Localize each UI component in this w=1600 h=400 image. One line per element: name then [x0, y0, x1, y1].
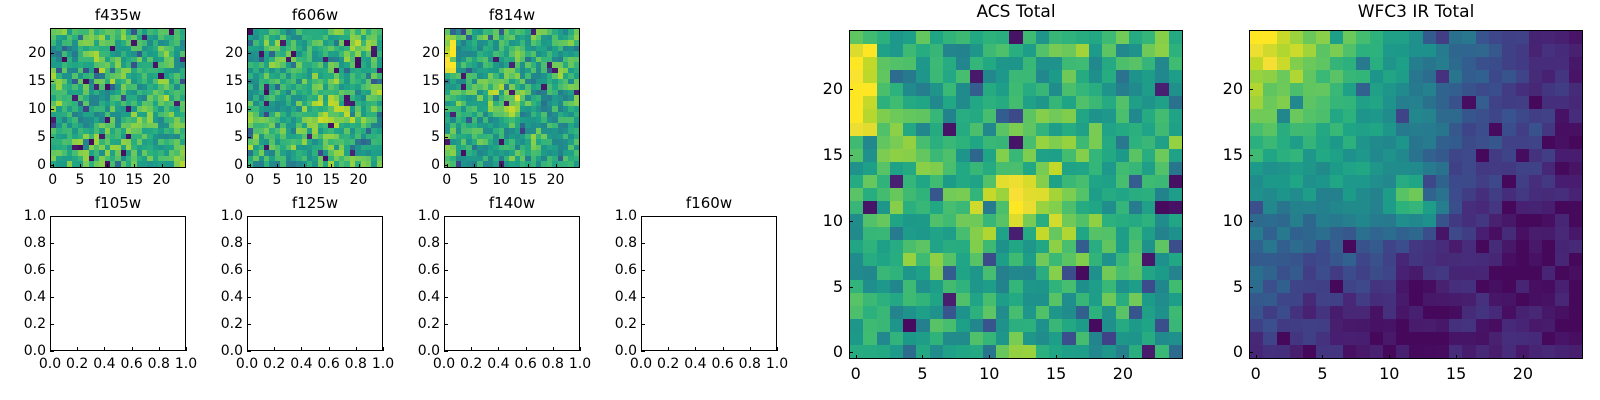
x-tick-label: 5: [1317, 366, 1327, 382]
y-tick-label: 20: [813, 81, 843, 97]
panel-acs-total: ACS Total 0055101015152020: [849, 4, 1183, 394]
panel-title-acs-total: ACS Total: [849, 4, 1183, 21]
x-tick-label: 0.2: [460, 357, 482, 371]
x-tick-label: 0: [245, 173, 254, 187]
x-tick-label: 0.0: [433, 357, 455, 371]
x-tick-mark: [922, 355, 923, 359]
y-tick-mark: [247, 243, 251, 244]
axes-f814w[interactable]: [444, 28, 580, 168]
panel-f125w: f125w 0.00.00.20.20.40.40.60.60.80.81.01…: [247, 196, 383, 386]
y-tick-mark: [444, 216, 448, 217]
y-tick-mark: [849, 155, 853, 156]
panel-title-wfc3-ir-total: WFC3 IR Total: [1249, 4, 1583, 21]
y-tick-mark: [247, 216, 251, 217]
y-tick-label: 0.4: [605, 290, 637, 304]
y-tick-mark: [1249, 155, 1253, 156]
y-tick-label: 20: [1213, 81, 1243, 97]
x-tick-label: 0.6: [120, 357, 142, 371]
x-tick-label: 0.8: [739, 357, 761, 371]
x-tick-mark: [1456, 355, 1457, 359]
panel-f160w: f160w 0.00.00.20.20.40.40.60.60.80.81.01…: [641, 196, 777, 386]
y-tick-label: 15: [813, 147, 843, 163]
axes-f160w[interactable]: [641, 216, 777, 351]
y-tick-label: 0.0: [408, 344, 440, 358]
heatmap-f606w: [248, 29, 382, 167]
panel-title-f140w: f140w: [444, 196, 580, 211]
x-tick-mark: [750, 347, 751, 351]
y-tick-label: 1.0: [408, 209, 440, 223]
panel-title-f606w: f606w: [247, 8, 383, 23]
x-tick-label: 0.8: [345, 357, 367, 371]
y-tick-mark: [444, 53, 448, 54]
y-tick-label: 15: [16, 74, 46, 88]
heatmap-wfc3-ir-total: [1250, 31, 1582, 358]
y-tick-mark: [50, 53, 54, 54]
x-tick-mark: [132, 347, 133, 351]
y-tick-label: 0.6: [408, 263, 440, 277]
x-tick-label: 15: [322, 173, 340, 187]
y-tick-mark: [444, 137, 448, 138]
x-tick-label: 0.4: [290, 357, 312, 371]
y-tick-label: 20: [16, 46, 46, 60]
x-tick-mark: [989, 355, 990, 359]
y-tick-mark: [444, 243, 448, 244]
panel-title-f105w: f105w: [50, 196, 186, 211]
y-tick-mark: [849, 287, 853, 288]
x-tick-mark: [277, 164, 278, 168]
x-tick-label: 0.6: [317, 357, 339, 371]
y-tick-mark: [1249, 221, 1253, 222]
y-tick-label: 0: [213, 158, 243, 172]
y-tick-mark: [50, 109, 54, 110]
x-tick-label: 10: [979, 366, 999, 382]
panel-title-f160w: f160w: [641, 196, 777, 211]
x-tick-label: 0.2: [263, 357, 285, 371]
x-tick-label: 1.0: [175, 357, 197, 371]
x-tick-mark: [159, 347, 160, 351]
y-tick-mark: [444, 270, 448, 271]
x-tick-mark: [329, 347, 330, 351]
axes-f125w[interactable]: [247, 216, 383, 351]
x-tick-label: 1.0: [766, 357, 788, 371]
x-tick-label: 15: [1046, 366, 1066, 382]
figure-canvas: f435w 0055101015152020 f606w 00551010151…: [0, 0, 1600, 400]
panel-title-f435w: f435w: [50, 8, 186, 23]
x-tick-label: 0.0: [630, 357, 652, 371]
x-tick-mark: [356, 347, 357, 351]
x-tick-label: 20: [547, 173, 565, 187]
axes-f105w[interactable]: [50, 216, 186, 351]
y-tick-mark: [641, 243, 645, 244]
y-tick-label: 10: [410, 102, 440, 116]
x-tick-label: 10: [492, 173, 510, 187]
x-tick-mark: [104, 347, 105, 351]
x-tick-label: 0: [851, 366, 861, 382]
x-tick-label: 0.6: [514, 357, 536, 371]
y-tick-label: 0.2: [408, 317, 440, 331]
panel-f606w: f606w 0055101015152020: [247, 8, 383, 198]
y-tick-label: 5: [213, 130, 243, 144]
y-tick-label: 0.2: [605, 317, 637, 331]
x-tick-label: 0.8: [148, 357, 170, 371]
y-tick-mark: [641, 324, 645, 325]
x-tick-mark: [556, 164, 557, 168]
x-tick-label: 0.4: [684, 357, 706, 371]
y-tick-mark: [1249, 287, 1253, 288]
y-tick-label: 0: [1213, 344, 1243, 360]
x-tick-label: 10: [295, 173, 313, 187]
y-tick-mark: [50, 297, 54, 298]
x-tick-mark: [1256, 355, 1257, 359]
x-tick-mark: [501, 164, 502, 168]
axes-f606w[interactable]: [247, 28, 383, 168]
x-tick-label: 0.2: [66, 357, 88, 371]
x-tick-label: 0.0: [39, 357, 61, 371]
x-tick-label: 0: [442, 173, 451, 187]
y-tick-label: 10: [16, 102, 46, 116]
y-tick-label: 10: [813, 213, 843, 229]
y-tick-label: 0: [16, 158, 46, 172]
y-tick-mark: [641, 216, 645, 217]
x-tick-mark: [301, 347, 302, 351]
y-tick-mark: [50, 137, 54, 138]
x-tick-label: 0.4: [487, 357, 509, 371]
x-tick-mark: [1322, 355, 1323, 359]
y-tick-mark: [247, 351, 251, 352]
y-tick-label: 0.8: [605, 236, 637, 250]
x-tick-mark: [80, 164, 81, 168]
y-tick-label: 0.0: [14, 344, 46, 358]
y-tick-mark: [641, 270, 645, 271]
x-tick-label: 0: [1251, 366, 1261, 382]
x-tick-mark: [580, 347, 581, 351]
y-tick-label: 0: [813, 344, 843, 360]
x-tick-label: 0.0: [236, 357, 258, 371]
x-tick-label: 5: [272, 173, 281, 187]
panel-f435w: f435w 0055101015152020: [50, 8, 186, 198]
x-tick-mark: [304, 164, 305, 168]
y-tick-label: 1.0: [211, 209, 243, 223]
y-tick-mark: [50, 81, 54, 82]
x-tick-label: 15: [519, 173, 537, 187]
x-tick-label: 10: [1379, 366, 1399, 382]
heatmap-f814w: [445, 29, 579, 167]
heatmap-acs-total: [850, 31, 1182, 358]
x-tick-label: 20: [350, 173, 368, 187]
x-tick-label: 0.8: [542, 357, 564, 371]
y-tick-label: 5: [410, 130, 440, 144]
y-tick-label: 0.6: [605, 263, 637, 277]
y-tick-label: 15: [410, 74, 440, 88]
y-tick-label: 0.4: [211, 290, 243, 304]
y-tick-label: 15: [1213, 147, 1243, 163]
x-tick-label: 5: [917, 366, 927, 382]
x-tick-mark: [383, 347, 384, 351]
y-tick-label: 0.8: [211, 236, 243, 250]
x-tick-mark: [668, 347, 669, 351]
y-tick-label: 0.8: [408, 236, 440, 250]
y-tick-mark: [247, 81, 251, 82]
y-tick-label: 0.4: [14, 290, 46, 304]
x-tick-mark: [1056, 355, 1057, 359]
x-tick-mark: [856, 355, 857, 359]
x-tick-mark: [474, 164, 475, 168]
y-tick-label: 20: [213, 46, 243, 60]
panel-title-f814w: f814w: [444, 8, 580, 23]
y-tick-label: 20: [410, 46, 440, 60]
y-tick-label: 1.0: [605, 209, 637, 223]
y-tick-mark: [444, 324, 448, 325]
y-tick-mark: [247, 109, 251, 110]
y-tick-mark: [641, 351, 645, 352]
y-tick-mark: [444, 109, 448, 110]
y-tick-label: 0.6: [14, 263, 46, 277]
y-tick-mark: [247, 165, 251, 166]
y-tick-label: 10: [213, 102, 243, 116]
x-tick-mark: [186, 347, 187, 351]
y-tick-label: 0: [410, 158, 440, 172]
panel-title-f125w: f125w: [247, 196, 383, 211]
x-tick-label: 20: [153, 173, 171, 187]
x-tick-label: 1.0: [372, 357, 394, 371]
y-tick-mark: [50, 243, 54, 244]
x-tick-label: 1.0: [569, 357, 591, 371]
y-tick-mark: [444, 297, 448, 298]
x-tick-mark: [553, 347, 554, 351]
y-tick-mark: [444, 165, 448, 166]
x-tick-mark: [1123, 355, 1124, 359]
axes-f435w[interactable]: [50, 28, 186, 168]
x-tick-label: 0.2: [657, 357, 679, 371]
x-tick-label: 10: [98, 173, 116, 187]
y-tick-mark: [50, 324, 54, 325]
panel-f140w: f140w 0.00.00.20.20.40.40.60.60.80.81.01…: [444, 196, 580, 386]
x-tick-mark: [498, 347, 499, 351]
y-tick-mark: [247, 324, 251, 325]
axes-acs-total[interactable]: [849, 30, 1183, 359]
y-tick-label: 0.0: [211, 344, 243, 358]
y-tick-mark: [849, 89, 853, 90]
y-tick-mark: [1249, 352, 1253, 353]
x-tick-mark: [1523, 355, 1524, 359]
y-tick-mark: [50, 165, 54, 166]
y-tick-mark: [444, 81, 448, 82]
panel-wfc3-ir-total: WFC3 IR Total 0055101015152020: [1249, 4, 1583, 394]
y-tick-mark: [50, 216, 54, 217]
axes-wfc3-ir-total[interactable]: [1249, 30, 1583, 359]
y-tick-label: 10: [1213, 213, 1243, 229]
y-tick-label: 0.8: [14, 236, 46, 250]
x-tick-mark: [723, 347, 724, 351]
y-tick-mark: [50, 351, 54, 352]
x-tick-label: 0: [48, 173, 57, 187]
x-tick-label: 15: [125, 173, 143, 187]
x-tick-mark: [162, 164, 163, 168]
panel-f105w: f105w 0.00.00.20.20.40.40.60.60.80.81.01…: [50, 196, 186, 386]
x-tick-label: 0.4: [93, 357, 115, 371]
y-tick-mark: [1249, 89, 1253, 90]
x-tick-mark: [359, 164, 360, 168]
y-tick-mark: [849, 221, 853, 222]
y-tick-label: 0.2: [14, 317, 46, 331]
x-tick-mark: [274, 347, 275, 351]
y-tick-mark: [247, 137, 251, 138]
y-tick-mark: [444, 351, 448, 352]
y-tick-mark: [641, 297, 645, 298]
y-tick-label: 15: [213, 74, 243, 88]
y-tick-mark: [247, 270, 251, 271]
x-tick-mark: [777, 347, 778, 351]
y-tick-label: 1.0: [14, 209, 46, 223]
y-tick-label: 5: [1213, 279, 1243, 295]
y-tick-label: 5: [813, 279, 843, 295]
y-tick-mark: [849, 352, 853, 353]
x-tick-mark: [1389, 355, 1390, 359]
panel-f814w: f814w 0055101015152020: [444, 8, 580, 198]
x-tick-mark: [77, 347, 78, 351]
x-tick-mark: [471, 347, 472, 351]
x-tick-mark: [526, 347, 527, 351]
y-tick-mark: [247, 53, 251, 54]
x-tick-mark: [695, 347, 696, 351]
axes-f140w[interactable]: [444, 216, 580, 351]
x-tick-label: 15: [1446, 366, 1466, 382]
x-tick-mark: [134, 164, 135, 168]
y-tick-label: 0.6: [211, 263, 243, 277]
x-tick-label: 5: [469, 173, 478, 187]
y-tick-label: 0.0: [605, 344, 637, 358]
x-tick-mark: [107, 164, 108, 168]
y-tick-label: 5: [16, 130, 46, 144]
heatmap-f435w: [51, 29, 185, 167]
x-tick-mark: [528, 164, 529, 168]
y-tick-label: 0.4: [408, 290, 440, 304]
x-tick-label: 20: [1113, 366, 1133, 382]
y-tick-label: 0.2: [211, 317, 243, 331]
x-tick-label: 20: [1513, 366, 1533, 382]
y-tick-mark: [50, 270, 54, 271]
x-tick-mark: [331, 164, 332, 168]
x-tick-label: 5: [75, 173, 84, 187]
y-tick-mark: [247, 297, 251, 298]
x-tick-label: 0.6: [711, 357, 733, 371]
